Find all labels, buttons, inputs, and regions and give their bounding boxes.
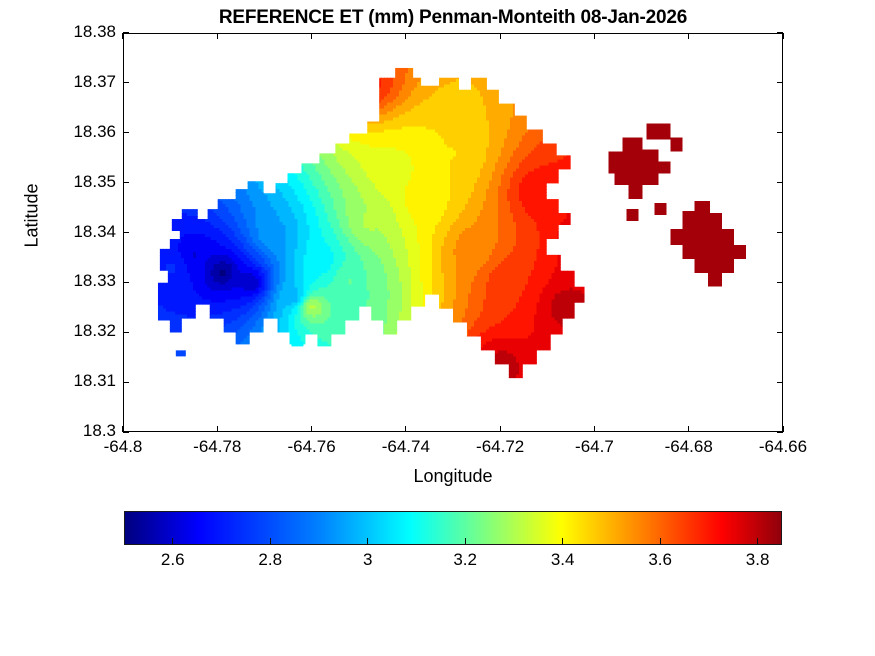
x-tick-mark [217, 33, 218, 39]
y-tick-labels: 18.3818.3718.3618.3518.3418.3318.3218.31… [0, 0, 116, 656]
matlab-figure: REFERENCE ET (mm) Penman-Monteith 08-Jan… [0, 0, 875, 656]
y-tick-mark [123, 32, 129, 33]
x-tick-label: -64.66 [728, 437, 838, 457]
colorbar-tick-mark [367, 538, 368, 545]
y-tick-mark [777, 182, 783, 183]
x-tick-mark [122, 33, 123, 39]
colorbar-tick-mark [270, 538, 271, 545]
colorbar-tick-mark [562, 538, 563, 545]
y-tick-mark [123, 182, 129, 183]
colorbar-tick-mark [757, 538, 758, 545]
y-tick-mark [123, 282, 129, 283]
x-tick-mark [311, 33, 312, 39]
y-tick-mark [123, 332, 129, 333]
colorbar-tick-mark [465, 538, 466, 545]
y-tick-label: 18.31 [6, 371, 116, 391]
y-tick-mark [777, 82, 783, 83]
colorbar-tick-label: 3.4 [523, 550, 603, 570]
x-tick-mark [217, 426, 218, 432]
y-tick-mark [123, 232, 129, 233]
colorbar [124, 511, 782, 545]
x-tick-mark [594, 426, 595, 432]
y-tick-label: 18.37 [6, 72, 116, 92]
colorbar-tick-label: 3.8 [718, 550, 798, 570]
x-tick-mark [500, 426, 501, 432]
y-tick-mark [777, 282, 783, 283]
x-tick-mark [311, 426, 312, 432]
x-axis-title: Longitude [123, 466, 783, 487]
colorbar-tick-label: 3.6 [620, 550, 700, 570]
y-tick-mark [777, 382, 783, 383]
colorbar-tick-mark [172, 538, 173, 545]
x-tick-mark [405, 33, 406, 39]
x-tick-mark [594, 33, 595, 39]
et-heatmap [124, 34, 782, 431]
y-tick-mark [123, 132, 129, 133]
x-tick-mark [782, 33, 783, 39]
y-tick-label: 18.32 [6, 321, 116, 341]
y-axis-title: Latitude [22, 156, 43, 276]
colorbar-tick-label: 2.6 [133, 550, 213, 570]
x-tick-mark [405, 426, 406, 432]
colorbar-tick-mark [660, 538, 661, 545]
y-tick-mark [777, 132, 783, 133]
x-tick-mark [500, 33, 501, 39]
y-tick-label: 18.38 [6, 22, 116, 42]
eastern-fragments [609, 124, 747, 287]
colorbar-tick-label: 3 [328, 550, 408, 570]
x-tick-mark [688, 33, 689, 39]
y-tick-mark [777, 232, 783, 233]
y-tick-mark [123, 382, 129, 383]
colorbar-tick-label: 2.8 [230, 550, 310, 570]
colorbar-tick-label: 3.2 [425, 550, 505, 570]
colorbar-gradient [124, 511, 782, 545]
plot-axes-box [123, 33, 783, 432]
y-tick-label: 18.36 [6, 122, 116, 142]
x-tick-mark [688, 426, 689, 432]
y-tick-mark [777, 332, 783, 333]
y-tick-mark [123, 82, 129, 83]
page-title: REFERENCE ET (mm) Penman-Monteith 08-Jan… [123, 7, 783, 29]
y-tick-mark [777, 431, 783, 432]
y-tick-mark [777, 32, 783, 33]
y-tick-mark [123, 431, 129, 432]
